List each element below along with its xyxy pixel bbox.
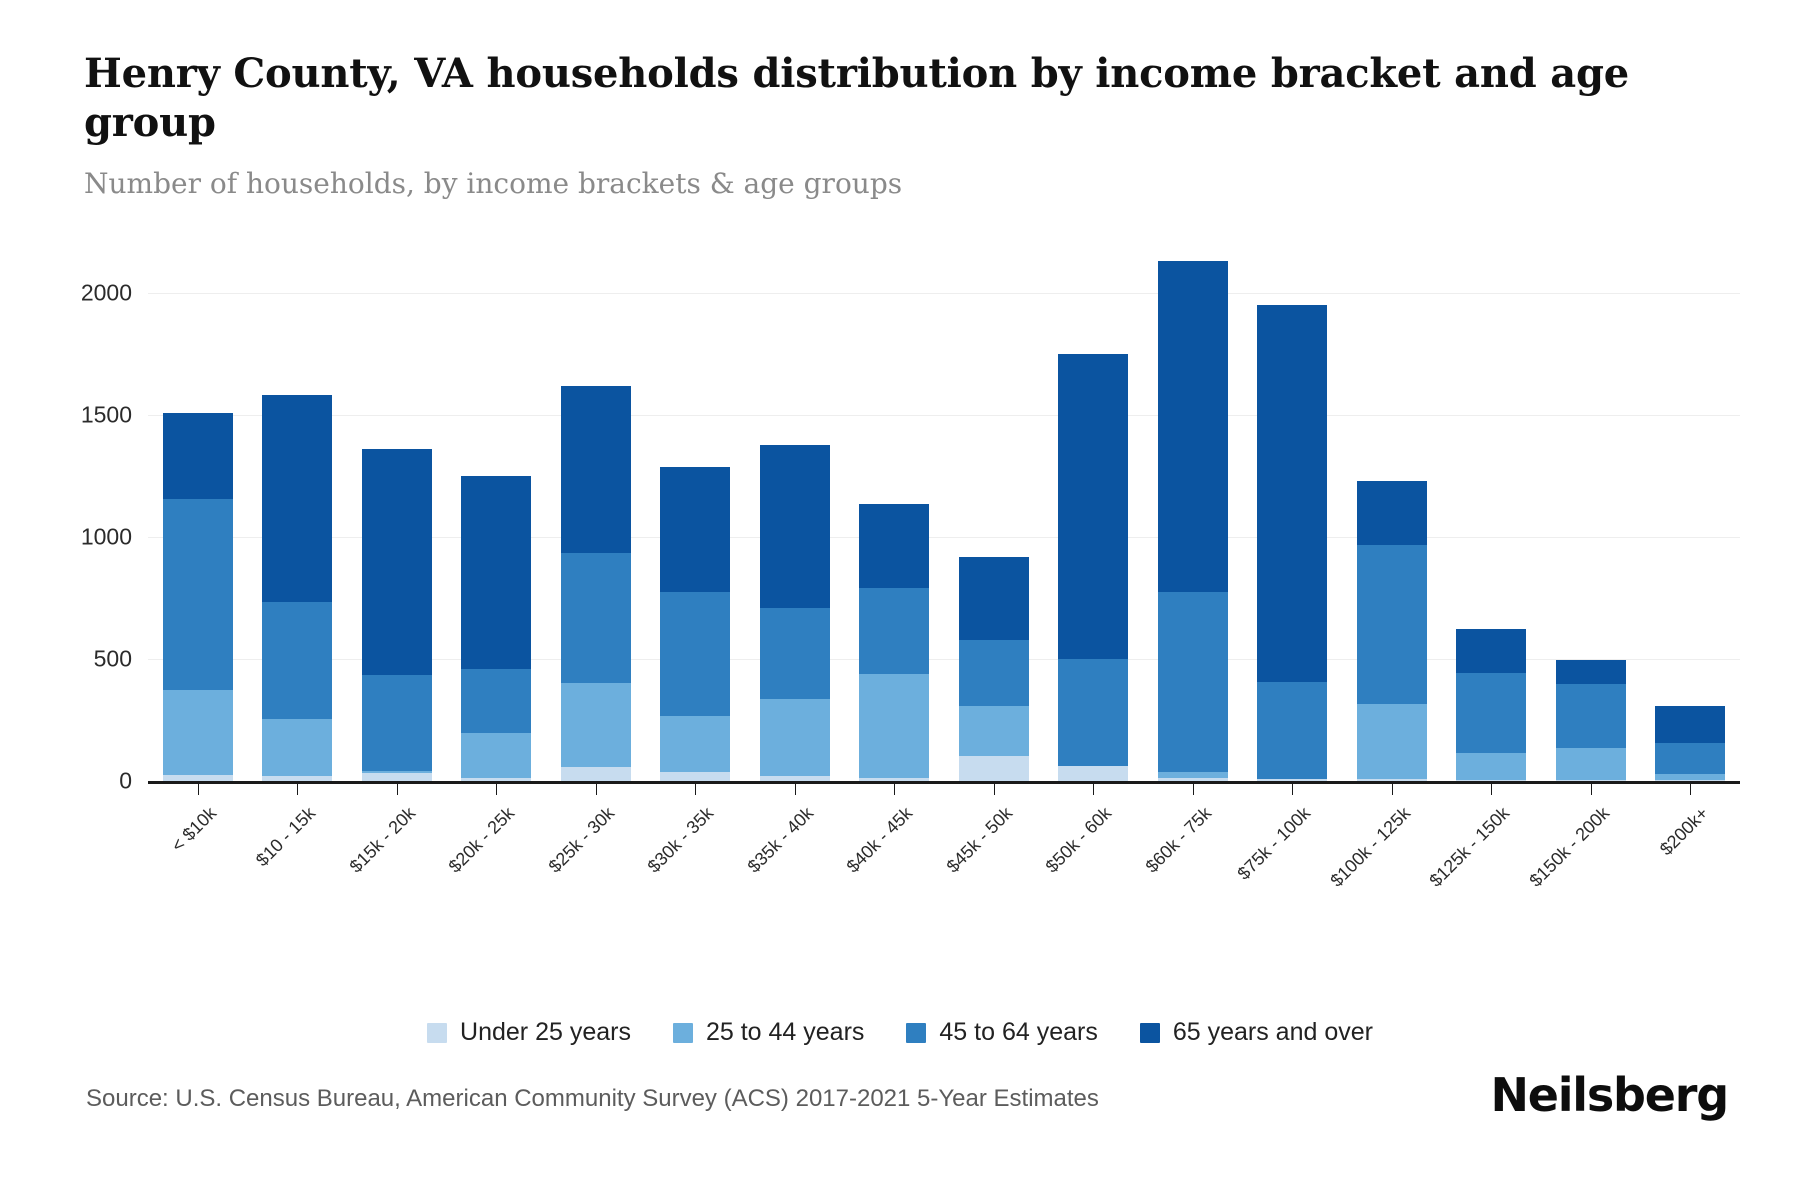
- legend-item[interactable]: 65 years and over: [1140, 1018, 1373, 1047]
- bar-segment[interactable]: [959, 557, 1029, 640]
- x-axis-tick: [1292, 784, 1293, 795]
- bar-segment[interactable]: [461, 476, 531, 669]
- x-axis-tick: [1392, 784, 1393, 795]
- bar-segment[interactable]: [1158, 772, 1228, 778]
- bar-stack[interactable]: [1556, 293, 1626, 781]
- x-axis-tick: [994, 784, 995, 795]
- chart-legend: Under 25 years25 to 44 years45 to 64 yea…: [0, 1018, 1800, 1047]
- x-axis-tick-label: $20k - 25k: [391, 803, 519, 931]
- bar-segment[interactable]: [660, 716, 730, 773]
- bar-stack[interactable]: [1456, 293, 1526, 781]
- bar-segment[interactable]: [1357, 545, 1427, 704]
- bar-segment[interactable]: [163, 690, 233, 775]
- source-note: Source: U.S. Census Bureau, American Com…: [86, 1085, 1099, 1113]
- bar-segment[interactable]: [1058, 354, 1128, 659]
- bar-segment[interactable]: [1257, 305, 1327, 682]
- bar-segment[interactable]: [959, 640, 1029, 706]
- bar-segment[interactable]: [362, 771, 432, 773]
- bar-segment[interactable]: [163, 499, 233, 690]
- bar-segment[interactable]: [262, 719, 332, 776]
- bar-segment[interactable]: [1357, 704, 1427, 779]
- bar-segment[interactable]: [163, 413, 233, 500]
- x-axis-tick: [1193, 784, 1194, 795]
- bar-segment[interactable]: [362, 675, 432, 771]
- legend-item[interactable]: Under 25 years: [427, 1018, 631, 1047]
- bar-segment[interactable]: [1158, 778, 1228, 781]
- bar-stack[interactable]: [859, 293, 929, 781]
- bar-segment[interactable]: [561, 767, 631, 781]
- legend-swatch-icon: [906, 1023, 926, 1043]
- bar-segment[interactable]: [262, 602, 332, 719]
- x-axis-tick-label: $40k - 45k: [789, 803, 917, 931]
- bar-segment[interactable]: [262, 395, 332, 602]
- bar-segment[interactable]: [1556, 660, 1626, 684]
- bar-segment[interactable]: [362, 773, 432, 781]
- x-axis-tick-label: $15k - 20k: [292, 803, 420, 931]
- bar-segment[interactable]: [1556, 780, 1626, 781]
- bar-segment[interactable]: [1456, 780, 1526, 781]
- gridline: [148, 537, 1740, 538]
- legend-item-label: 65 years and over: [1173, 1018, 1373, 1047]
- x-axis-tick: [1491, 784, 1492, 795]
- x-axis-tick-label: $10 - 15k: [192, 803, 320, 931]
- bar-segment[interactable]: [660, 467, 730, 593]
- bar-segment[interactable]: [1655, 706, 1725, 743]
- x-axis-tick: [1690, 784, 1691, 795]
- x-axis-tick-label: < $10k: [93, 803, 221, 931]
- x-axis-tick-label: $30k - 35k: [590, 803, 718, 931]
- bar-segment[interactable]: [1058, 659, 1128, 767]
- bar-segment[interactable]: [163, 775, 233, 781]
- legend-item-label: 25 to 44 years: [706, 1018, 864, 1047]
- x-axis-tick-label: $25k - 30k: [491, 803, 619, 931]
- brand-logo: Neilsberg: [1490, 1068, 1728, 1122]
- bar-segment[interactable]: [1556, 684, 1626, 748]
- gridline: [148, 659, 1740, 660]
- x-axis-tick: [1093, 784, 1094, 795]
- bar-segment[interactable]: [859, 674, 929, 777]
- bar-segment[interactable]: [1058, 766, 1128, 781]
- x-axis-tick-label: $100k - 125k: [1287, 803, 1415, 931]
- bar-segment[interactable]: [1655, 743, 1725, 774]
- y-axis-tick-label: 2000: [62, 280, 132, 307]
- bar-segment[interactable]: [959, 756, 1029, 781]
- bar-segment[interactable]: [1158, 261, 1228, 592]
- bar-stack[interactable]: [561, 293, 631, 781]
- legend-swatch-icon: [427, 1023, 447, 1043]
- x-axis-tick: [894, 784, 895, 795]
- bar-segment[interactable]: [461, 778, 531, 781]
- bar-segment[interactable]: [859, 778, 929, 781]
- legend-item-label: Under 25 years: [460, 1018, 631, 1047]
- bar-segment[interactable]: [859, 588, 929, 674]
- x-axis-tick: [397, 784, 398, 795]
- x-axis-tick-label: $150k - 200k: [1486, 803, 1614, 931]
- chart-page: Henry County, VA households distribution…: [0, 0, 1800, 1200]
- y-axis-tick-label: 1000: [62, 524, 132, 551]
- x-axis-tick: [795, 784, 796, 795]
- bar-segment[interactable]: [561, 386, 631, 554]
- bar-stack[interactable]: [262, 293, 332, 781]
- y-axis-tick-label: 500: [62, 646, 132, 673]
- legend-item[interactable]: 25 to 44 years: [673, 1018, 864, 1047]
- bar-segment[interactable]: [262, 776, 332, 781]
- bar-segment[interactable]: [760, 699, 830, 776]
- bar-stack[interactable]: [163, 293, 233, 781]
- bar-segment[interactable]: [760, 776, 830, 781]
- bar-segment[interactable]: [660, 772, 730, 781]
- bar-segment[interactable]: [1257, 779, 1327, 781]
- x-axis-tick: [496, 784, 497, 795]
- bar-segment[interactable]: [959, 706, 1029, 756]
- bar-segment[interactable]: [362, 449, 432, 676]
- bar-segment[interactable]: [461, 669, 531, 733]
- y-axis-tick-label: 1500: [62, 402, 132, 429]
- x-axis-tick-label: $75k - 100k: [1187, 803, 1315, 931]
- bar-segment[interactable]: [1257, 682, 1327, 779]
- bar-segment[interactable]: [1556, 748, 1626, 780]
- bar-segment[interactable]: [1655, 780, 1725, 781]
- bar-stack[interactable]: [959, 293, 1029, 781]
- legend-swatch-icon: [1140, 1023, 1160, 1043]
- bar-segment[interactable]: [760, 608, 830, 699]
- bar-segment[interactable]: [859, 504, 929, 588]
- x-axis-tick-label: $50k - 60k: [988, 803, 1116, 931]
- legend-swatch-icon: [673, 1023, 693, 1043]
- x-axis-tick: [1591, 784, 1592, 795]
- bar-stack[interactable]: [1058, 293, 1128, 781]
- bar-segment[interactable]: [461, 733, 531, 777]
- legend-item[interactable]: 45 to 64 years: [906, 1018, 1097, 1047]
- bar-segment[interactable]: [1456, 753, 1526, 779]
- bar-stack[interactable]: [461, 293, 531, 781]
- x-axis-tick-label: $45k - 50k: [889, 803, 1017, 931]
- x-axis-line: [148, 781, 1740, 784]
- bar-stack[interactable]: [362, 293, 432, 781]
- x-axis-tick-label: $35k - 40k: [690, 803, 818, 931]
- legend-item-label: 45 to 64 years: [939, 1018, 1097, 1047]
- bar-segment[interactable]: [561, 683, 631, 767]
- bar-segment[interactable]: [760, 445, 830, 608]
- x-axis-tick: [596, 784, 597, 795]
- x-axis-tick: [198, 784, 199, 795]
- y-axis-tick-label: 0: [62, 768, 132, 795]
- x-axis-tick-label: $200k+: [1585, 803, 1713, 931]
- bar-stack[interactable]: [660, 293, 730, 781]
- bar-stack[interactable]: [1357, 293, 1427, 781]
- bar-segment[interactable]: [660, 592, 730, 715]
- gridline: [148, 415, 1740, 416]
- bar-segment[interactable]: [1357, 779, 1427, 781]
- bar-segment[interactable]: [561, 553, 631, 683]
- bar-segment[interactable]: [1357, 481, 1427, 545]
- x-axis-tick: [695, 784, 696, 795]
- bar-stack[interactable]: [1257, 293, 1327, 781]
- x-axis-tick-label: $60k - 75k: [1088, 803, 1216, 931]
- bar-segment[interactable]: [1456, 629, 1526, 673]
- bar-segment[interactable]: [1158, 592, 1228, 772]
- bar-segment[interactable]: [1655, 774, 1725, 779]
- bar-stack[interactable]: [760, 293, 830, 781]
- gridline: [148, 293, 1740, 294]
- bar-stack[interactable]: [1655, 293, 1725, 781]
- bar-segment[interactable]: [1456, 673, 1526, 754]
- x-axis-tick-label: $125k - 150k: [1386, 803, 1514, 931]
- x-axis-tick: [297, 784, 298, 795]
- bar-stack[interactable]: [1158, 293, 1228, 781]
